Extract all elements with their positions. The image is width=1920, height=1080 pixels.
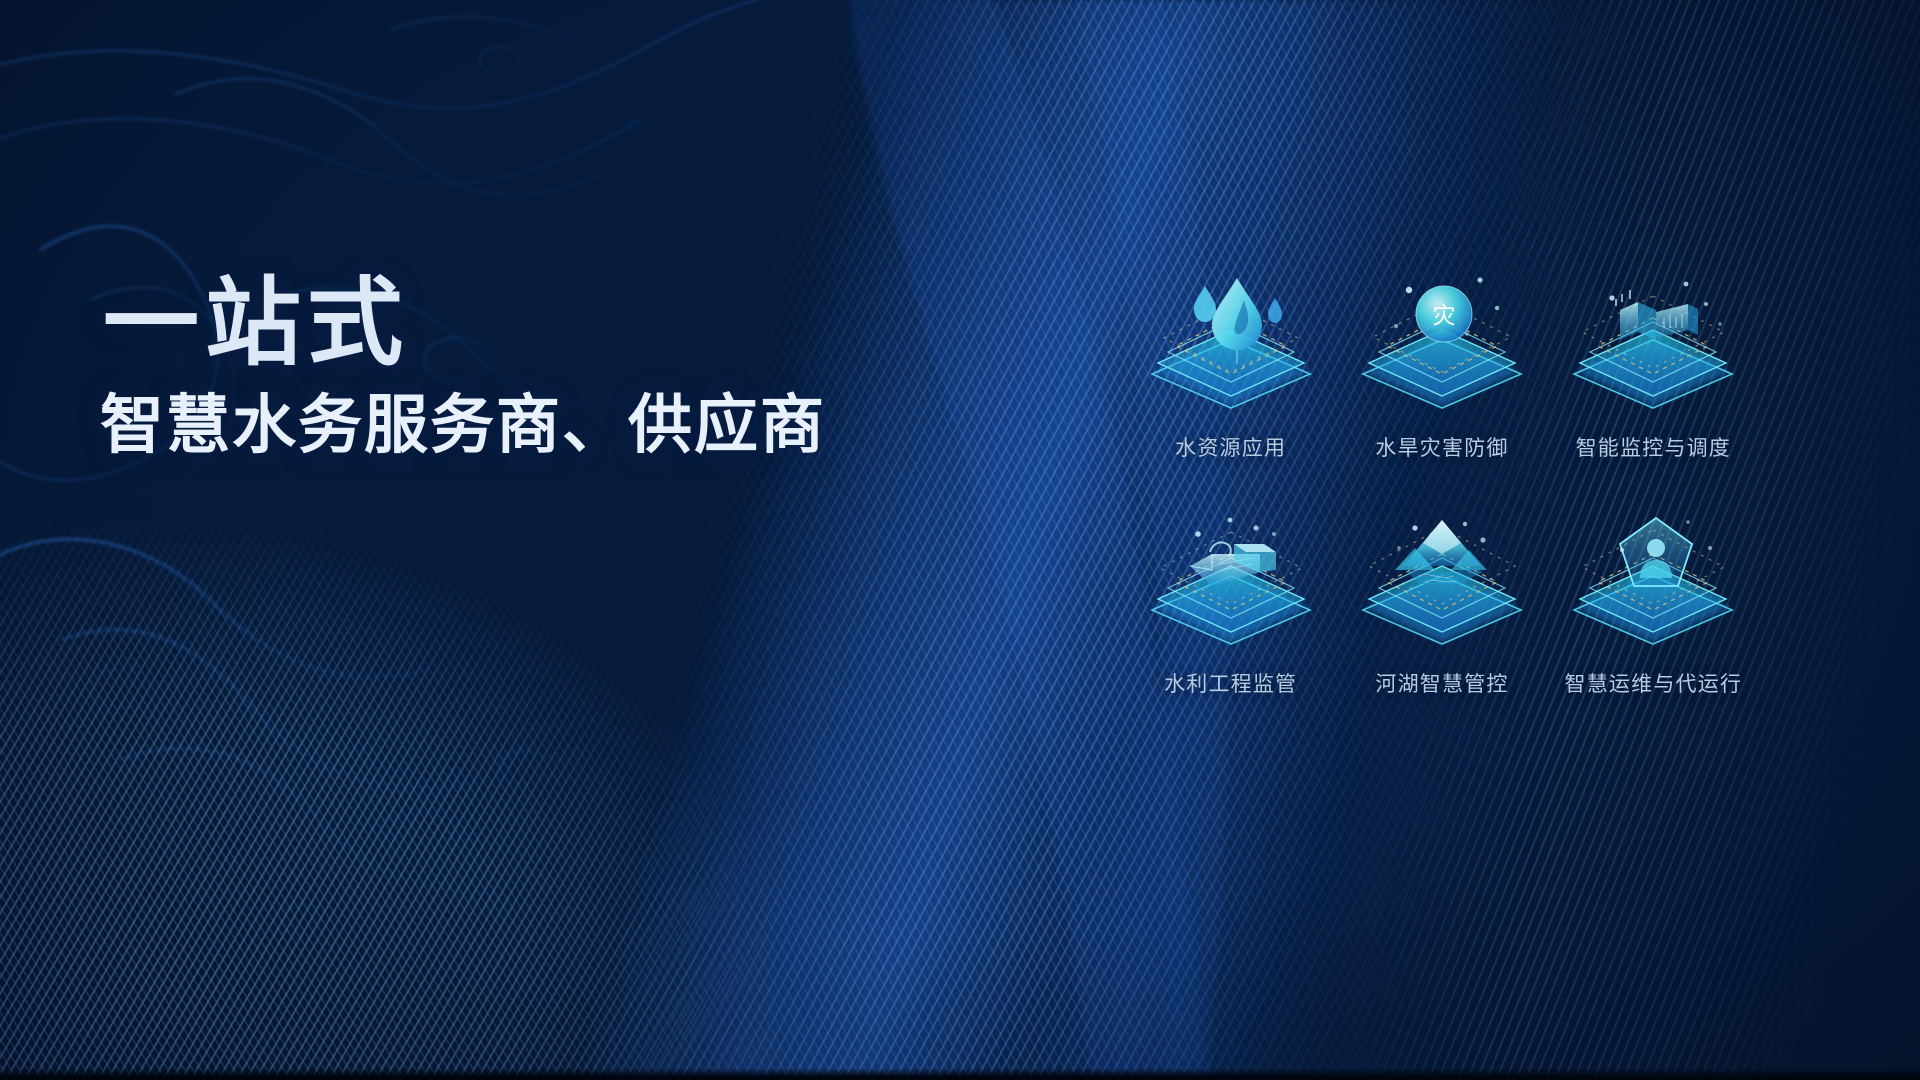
disaster-badge-character: 灾 [1432, 303, 1455, 329]
page-title-line2: 智慧水务服务商、供应商 [100, 390, 920, 462]
capability-grid: 水资源应用 [1128, 268, 1756, 698]
shield-operator-platform-icon [1560, 504, 1746, 656]
capability-label: 水资源应用 [1175, 432, 1286, 462]
capability-card-intelligent-monitoring-dispatch[interactable]: 智能监控与调度 [1551, 268, 1756, 462]
capability-label: 水利工程监管 [1164, 668, 1297, 698]
disaster-sphere-platform-icon: 灾 [1349, 268, 1535, 420]
mountain-river-platform-icon [1349, 504, 1535, 656]
capability-card-river-lake-smart-management[interactable]: 河湖智慧管控 [1339, 504, 1544, 698]
capability-label: 水旱灾害防御 [1375, 432, 1508, 462]
dam-pipeline-platform-icon [1138, 504, 1324, 656]
capability-label: 智慧运维与代运行 [1565, 668, 1743, 698]
headline-block: 一站式 智慧水务服务商、供应商 [100, 272, 920, 461]
capability-card-water-conservancy-project-supervision[interactable]: 水利工程监管 [1128, 504, 1333, 698]
capability-card-flood-drought-disaster-defense[interactable]: 灾 水旱灾害防御 [1339, 268, 1544, 462]
monitoring-station-platform-icon [1560, 268, 1746, 420]
capability-label: 河湖智慧管控 [1375, 668, 1508, 698]
capability-card-water-resource-application[interactable]: 水资源应用 [1128, 268, 1333, 462]
capability-card-smart-operations-agency[interactable]: 智慧运维与代运行 [1551, 504, 1756, 698]
capability-label: 智能监控与调度 [1576, 432, 1731, 462]
slide-canvas: 一站式 智慧水务服务商、供应商 [0, 0, 1920, 1080]
page-title-line1: 一站式 [103, 272, 920, 376]
water-droplet-platform-icon [1138, 268, 1324, 420]
